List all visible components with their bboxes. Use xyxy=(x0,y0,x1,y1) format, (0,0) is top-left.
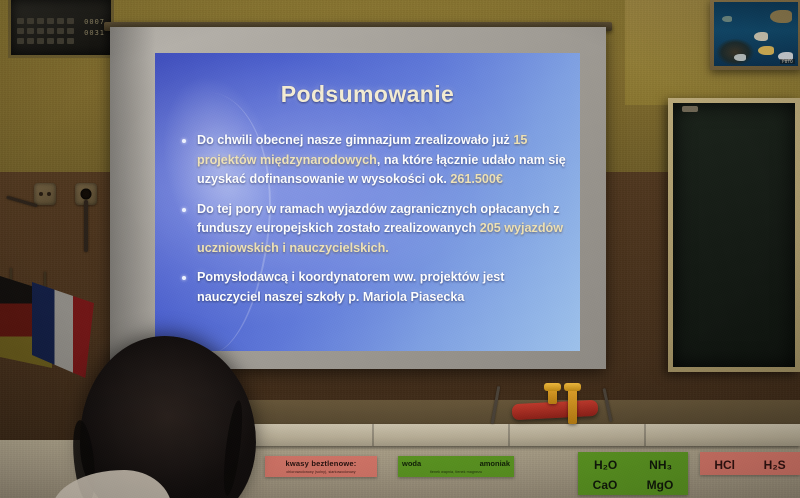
readout-top: 0007 xyxy=(84,18,105,26)
fish-icon xyxy=(770,10,792,23)
wall-control-panel[interactable]: 0007 0031 xyxy=(8,0,114,58)
chem-formula-row-2: CaO MgO xyxy=(582,478,684,492)
fish-icon xyxy=(754,32,768,41)
chalkboard[interactable] xyxy=(668,98,800,372)
chem-word-1: woda xyxy=(402,459,421,468)
chem-card-title: kwasy beztlenowe: xyxy=(269,459,373,468)
presentation-slide: Podsumowanie Do chwili obecnej nasze gim… xyxy=(155,53,580,351)
slide-title: Podsumowanie xyxy=(155,81,580,108)
poster-caption: FOTO xyxy=(780,59,795,64)
formula-cao: CaO xyxy=(593,478,618,492)
formula-nh3: NH₃ xyxy=(649,458,672,472)
slide-text-run: Pomysłodawcą i koordynatorem ww. projekt… xyxy=(197,270,504,304)
slide-bullet: Do tej pory w ramach wyjazdów zagraniczn… xyxy=(177,200,568,259)
slide-bullet-list: Do chwili obecnej nasze gimnazjum zreali… xyxy=(177,131,568,317)
chalkboard-surface xyxy=(673,103,795,367)
chem-formula-row-1: H₂O NH₃ xyxy=(582,458,684,472)
power-cable-right xyxy=(84,200,88,252)
lab-post-head-left xyxy=(544,383,561,391)
chem-card-subtitle: chlorowodorowy (solny), siarkowodorowy xyxy=(269,470,373,474)
projection-screen: Podsumowanie Do chwili obecnej nasze gim… xyxy=(110,27,606,369)
slide-text-run: Do chwili obecnej nasze gimnazjum zreali… xyxy=(197,133,513,147)
poster-image: FOTO xyxy=(714,2,798,66)
chem-word-2: amoniak xyxy=(480,459,510,468)
slide-text-highlight: 261.500€ xyxy=(450,172,503,186)
fish-icon xyxy=(734,54,746,61)
slide-bullet: Pomysłodawcą i koordynatorem ww. projekt… xyxy=(177,268,568,307)
slide-bullet: Do chwili obecnej nasze gimnazjum zreali… xyxy=(177,131,568,190)
formula-h2s: H₂S xyxy=(764,458,786,472)
formula-hcl: HCl xyxy=(714,458,735,472)
lab-post-right xyxy=(568,386,577,424)
aquarium-poster: FOTO xyxy=(710,0,800,70)
fish-icon xyxy=(722,16,732,22)
wall-outlet-left[interactable] xyxy=(34,183,56,205)
classroom-photo-scene: 0007 0031 Podsumowanie Do chwili obecnej… xyxy=(0,0,800,498)
chem-card-words: woda amoniak xyxy=(402,459,510,468)
chem-card-woda-amoniak: woda amoniak tlenek wapnia, tlenek magne… xyxy=(398,456,514,477)
readout-bottom: 0031 xyxy=(84,29,105,37)
chem-card-h2o-nh3: H₂O NH₃ CaO MgO xyxy=(578,452,688,495)
chalkboard-clip xyxy=(682,106,698,112)
formula-h2o: H₂O xyxy=(594,458,617,472)
chem-formula-row-1: HCl H₂S xyxy=(704,458,796,472)
chem-card-hcl-h2s: HCl H₂S xyxy=(700,452,800,475)
fish-icon xyxy=(758,46,774,55)
control-panel-keys xyxy=(17,18,74,44)
formula-mgo: MgO xyxy=(647,478,674,492)
control-panel-display: 0007 0031 xyxy=(71,18,105,42)
chem-card-subtitle: tlenek wapnia, tlenek magnezu xyxy=(402,470,510,474)
chem-card-kwasy: kwasy beztlenowe: chlorowodorowy (solny)… xyxy=(265,456,377,477)
lab-post-head-right xyxy=(564,383,581,391)
